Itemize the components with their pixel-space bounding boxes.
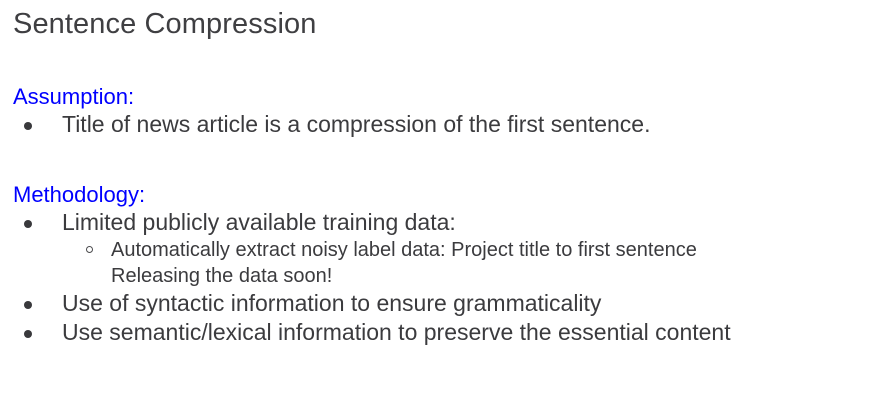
list-item-label: Title of news article is a compression o…	[62, 111, 650, 137]
section-heading-methodology: Methodology:	[13, 182, 863, 208]
list-item: Use semantic/lexical information to pres…	[13, 318, 863, 347]
disc-bullet-icon	[24, 301, 32, 309]
list-item-label: Use semantic/lexical information to pres…	[62, 319, 731, 345]
sub-list-item-label-line2: Releasing the data soon!	[111, 263, 863, 289]
disc-bullet-icon	[24, 122, 32, 130]
disc-bullet-icon	[24, 330, 32, 338]
page-title: Sentence Compression	[13, 6, 316, 42]
list-item-label: Limited publicly available training data…	[62, 209, 456, 235]
bullet-list-assumption: Title of news article is a compression o…	[13, 110, 863, 139]
disc-bullet-icon	[24, 220, 32, 228]
section-heading-assumption: Assumption:	[13, 84, 863, 110]
slide-canvas: Sentence Compression Assumption: Title o…	[0, 0, 871, 411]
ring-bullet-icon	[86, 246, 93, 253]
sub-bullet-list: Automatically extract noisy label data: …	[62, 237, 863, 289]
section-assumption: Assumption: Title of news article is a c…	[13, 84, 863, 139]
list-item: Title of news article is a compression o…	[13, 110, 863, 139]
sub-list-item-label-line1: Automatically extract noisy label data: …	[111, 237, 863, 263]
list-item-label: Use of syntactic information to ensure g…	[62, 290, 601, 316]
sub-list-item: Automatically extract noisy label data: …	[62, 237, 863, 289]
list-item: Limited publicly available training data…	[13, 208, 863, 289]
list-item: Use of syntactic information to ensure g…	[13, 289, 863, 318]
section-methodology: Methodology: Limited publicly available …	[13, 182, 863, 347]
bullet-list-methodology: Limited publicly available training data…	[13, 208, 863, 347]
